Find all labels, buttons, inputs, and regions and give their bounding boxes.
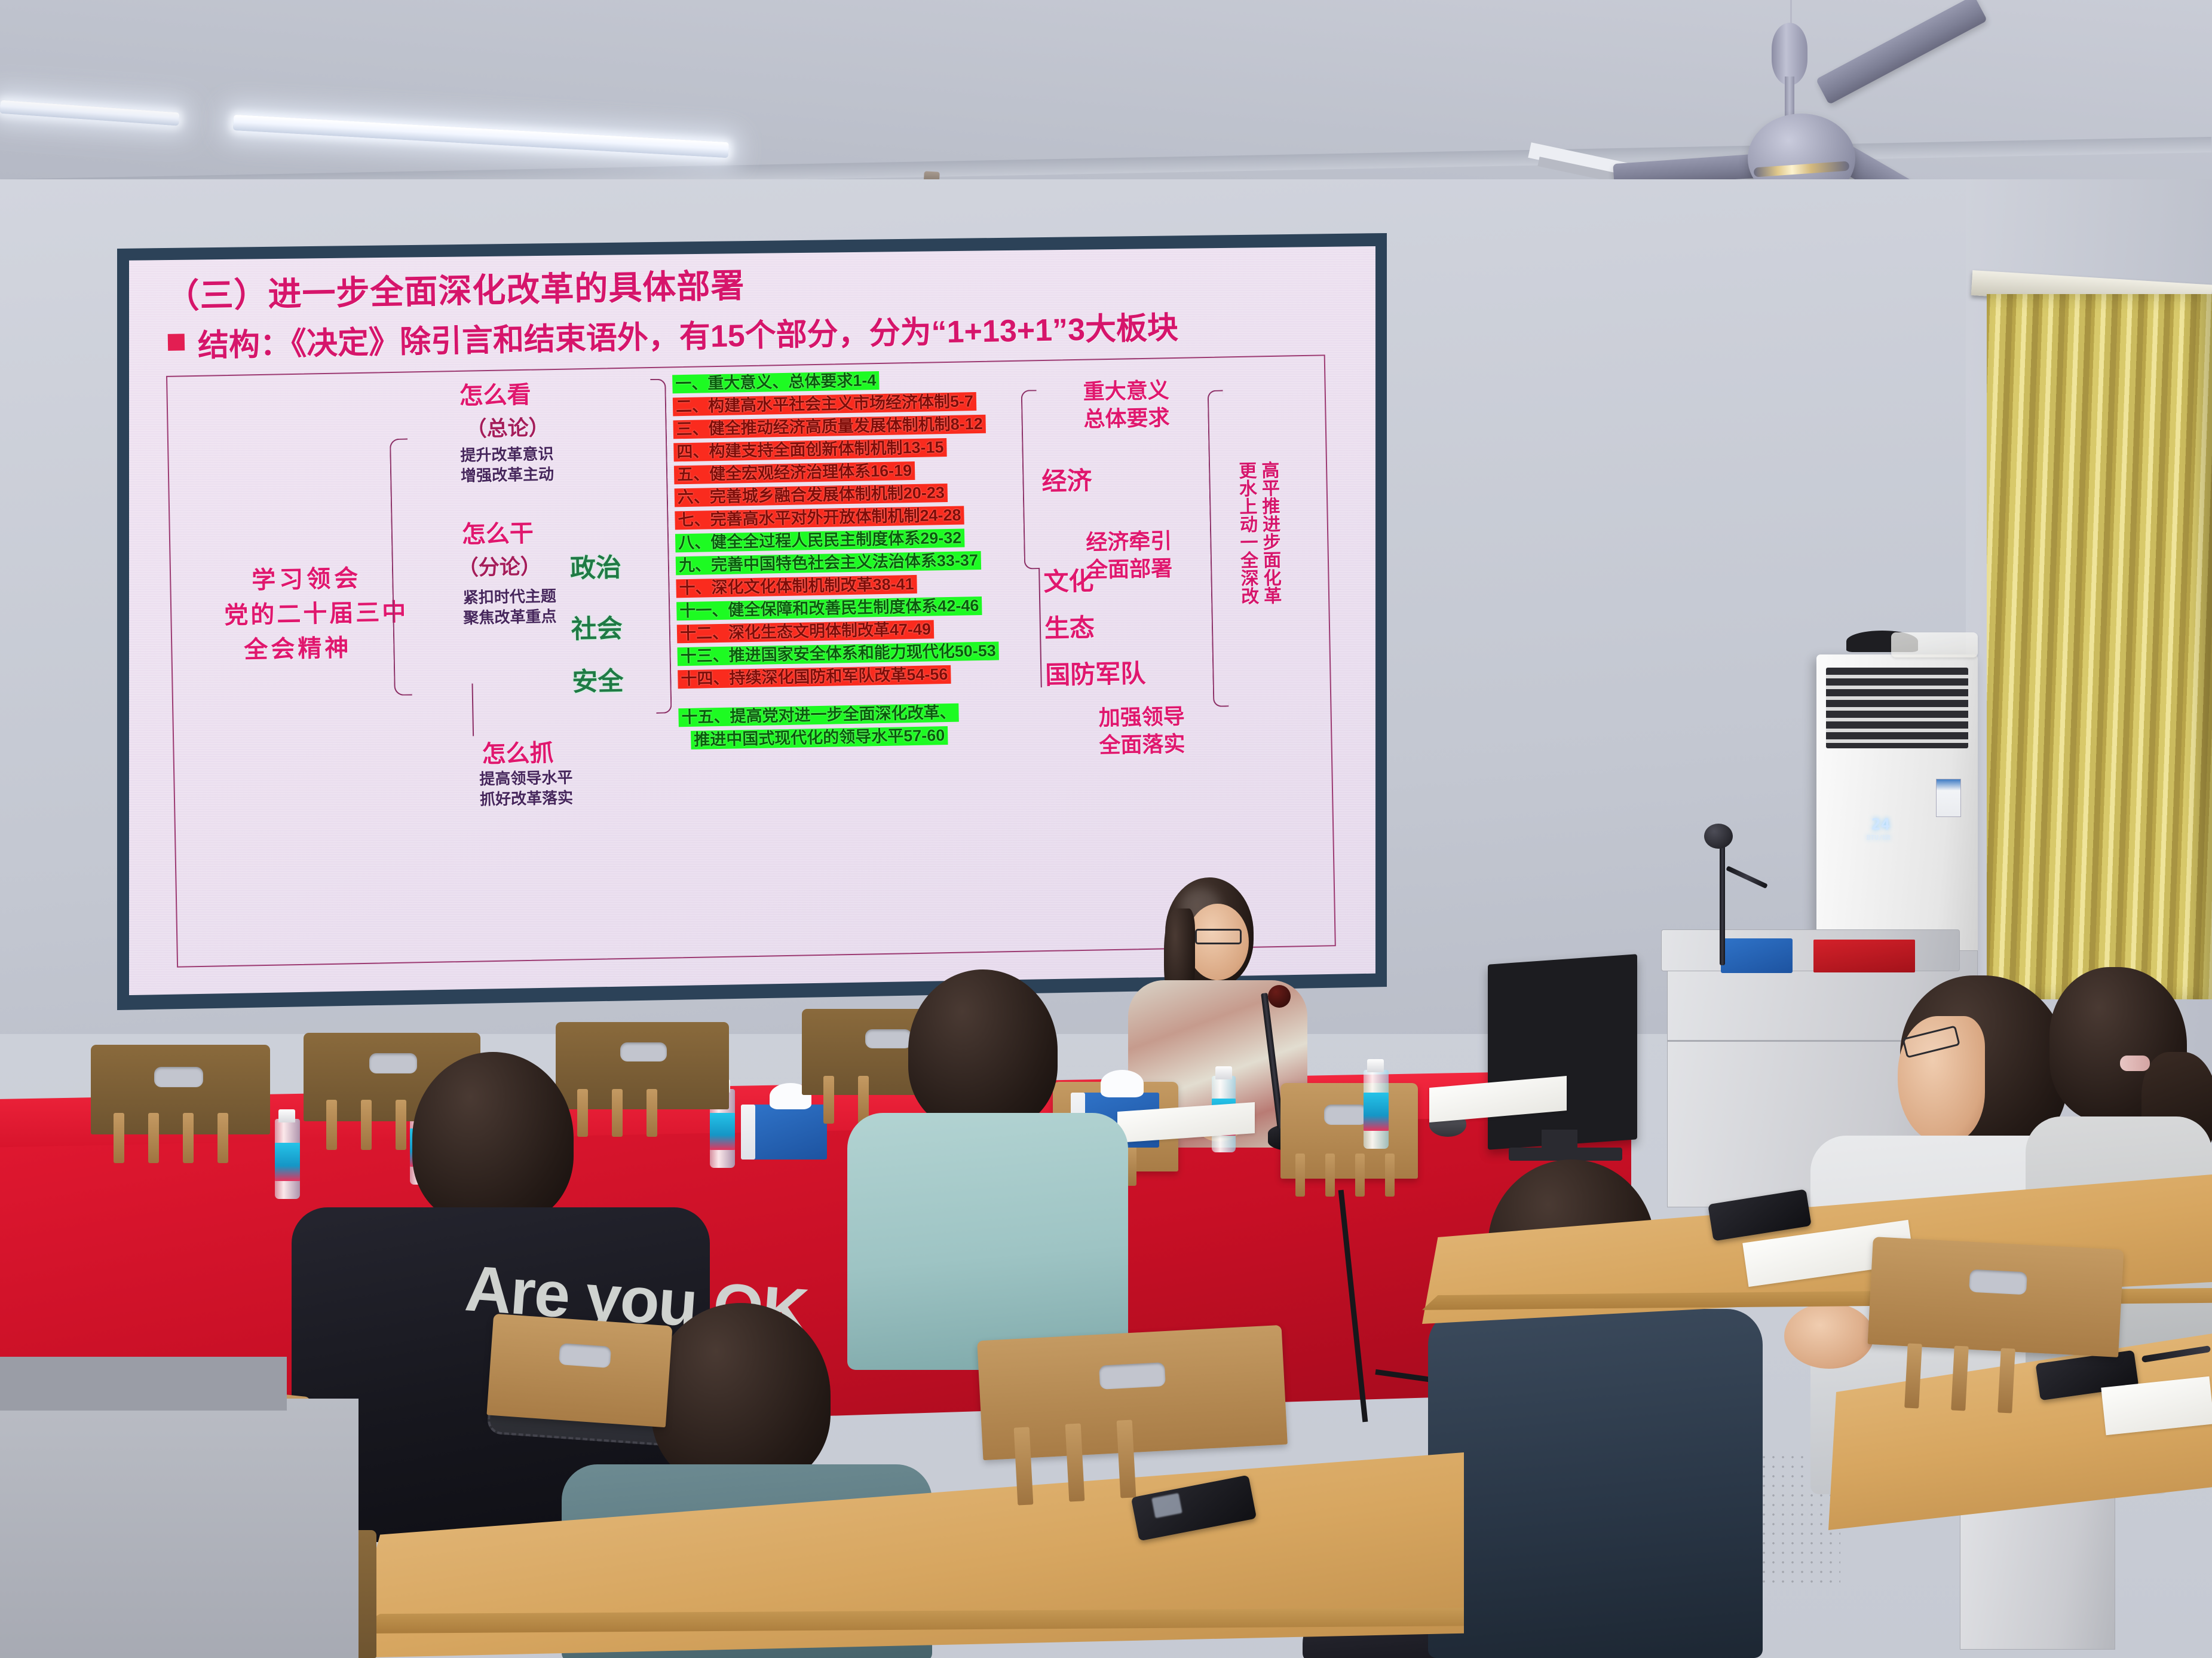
item-num: 十四、 bbox=[681, 669, 730, 688]
summary-1-line2: 总体要求 bbox=[1083, 400, 1170, 433]
chair-slat bbox=[1325, 1154, 1335, 1197]
item-text: 完善城乡融合发展体制机制20-23 bbox=[710, 484, 945, 506]
bracket-economy bbox=[1021, 390, 1040, 569]
chair-handle-cutout bbox=[865, 1029, 912, 1048]
item-num: 十三、 bbox=[680, 647, 729, 665]
window-curtain[interactable] bbox=[1987, 294, 2212, 999]
bottle-cap bbox=[1215, 1066, 1232, 1079]
floor-mic-stand[interactable] bbox=[1720, 840, 1725, 965]
chair-slat bbox=[577, 1089, 588, 1137]
chair-handle-cutout bbox=[620, 1042, 667, 1062]
chair-handle-cutout bbox=[1969, 1269, 2027, 1295]
item-text: 健全全过程人民民主制度体系29-32 bbox=[710, 529, 962, 552]
fan-suspension-chain bbox=[1790, 0, 1792, 25]
chair-slat bbox=[326, 1100, 337, 1150]
tissue-box[interactable] bbox=[752, 1105, 827, 1160]
ac-temperature-display: 24 bbox=[1871, 816, 1890, 834]
attendee-head bbox=[908, 969, 1058, 1131]
chair-slat bbox=[1385, 1154, 1395, 1197]
floor-strip bbox=[0, 1357, 287, 1411]
sector-label-economy: 经济 bbox=[1041, 461, 1092, 498]
chair-slat bbox=[1295, 1154, 1305, 1197]
chair-handle-cutout bbox=[1099, 1362, 1166, 1390]
vertical-text-col2: 高平推进步面化革 bbox=[1259, 461, 1280, 605]
item-num: 八、 bbox=[678, 533, 711, 552]
item-num: 七、 bbox=[678, 510, 710, 529]
summary-3-line2: 全面落实 bbox=[1099, 727, 1185, 760]
root-node-line3: 全会精神 bbox=[244, 628, 352, 665]
item-text: 构建支持全面创新体制机制13-15 bbox=[709, 438, 944, 460]
branch-sub-1: （总论） bbox=[465, 411, 550, 443]
tissue-sheet bbox=[1101, 1070, 1144, 1097]
item-num: 十二、 bbox=[680, 624, 729, 643]
chair-handle-cutout bbox=[1324, 1105, 1367, 1125]
chair-slat bbox=[148, 1113, 159, 1163]
item-text: 提高党对进一步全面深化改革、 bbox=[730, 703, 955, 726]
item-text: 健全保障和改善民生制度体系42-46 bbox=[728, 596, 979, 619]
item-num: 十五、 bbox=[681, 708, 730, 726]
item-num: 四、 bbox=[676, 442, 709, 461]
branch-note-1b: 增强改革主动 bbox=[461, 462, 554, 486]
bullet-square-icon bbox=[168, 334, 185, 351]
item-num: 十、 bbox=[679, 579, 712, 597]
branch-heading-1: 怎么看 bbox=[459, 375, 531, 411]
hair-tie bbox=[2120, 1056, 2150, 1071]
bottle-cap bbox=[278, 1109, 295, 1122]
sector-label-ecology: 生态 bbox=[1044, 608, 1095, 646]
chair-handle-cutout bbox=[559, 1343, 611, 1368]
vertical-text-col1: 更水上动一全深改 bbox=[1236, 461, 1258, 605]
chair-slat bbox=[647, 1089, 657, 1137]
ac-energy-label bbox=[1936, 779, 1961, 817]
branch-heading-2: 怎么干 bbox=[461, 514, 534, 550]
item-text: 完善高水平对外开放体制机制24-28 bbox=[710, 506, 961, 529]
projection-screen[interactable]: （三）进一步全面深化改革的具体部署 结构：《决定》除引言和结束语外，有15个部分… bbox=[129, 246, 1375, 995]
item-text: 推进中国式现代化的领导水平57-60 bbox=[694, 726, 945, 749]
chair-handle-cutout bbox=[154, 1067, 203, 1087]
bottle-label bbox=[1364, 1093, 1389, 1131]
floor-mic-head bbox=[1704, 824, 1733, 849]
tissue-box-side bbox=[741, 1105, 755, 1160]
chair-back[interactable] bbox=[486, 1314, 672, 1428]
chair-handle-cutout bbox=[369, 1053, 417, 1073]
item-text: 深化生态文明体制改革47-49 bbox=[728, 620, 932, 642]
branch-note-3b: 抓好改革落实 bbox=[480, 786, 574, 810]
item-text: 深化文化体制机制改革38-41 bbox=[711, 575, 914, 596]
attendee-body-light-blue bbox=[847, 1113, 1128, 1370]
sector-label-defense: 国防军队 bbox=[1045, 653, 1146, 692]
bottle-label bbox=[710, 1113, 735, 1150]
blue-box-on-printer[interactable] bbox=[1721, 938, 1793, 973]
meeting-room-scene: （三）进一步全面深化改革的具体部署 结构：《决定》除引言和结束语外，有15个部分… bbox=[0, 0, 2212, 1658]
summary-2-line2: 全面部署 bbox=[1086, 551, 1173, 584]
item-text: 重大意义、总体要求1-4 bbox=[707, 371, 877, 392]
domain-label-security: 安全 bbox=[572, 660, 624, 699]
floor bbox=[0, 1399, 359, 1658]
attendee-forearm bbox=[1784, 1303, 1874, 1369]
desk-mic-capsule bbox=[1268, 985, 1291, 1008]
ac-air-vent bbox=[1826, 668, 1968, 748]
chair-slat bbox=[1355, 1154, 1365, 1197]
red-box-on-printer[interactable] bbox=[1813, 940, 1915, 972]
ac-unit-label: BTU/HR bbox=[1867, 834, 1891, 842]
item-num: 一、 bbox=[675, 374, 708, 393]
slide-title: （三）进一步全面深化改革的具体部署 bbox=[166, 259, 745, 318]
item-num: 二、 bbox=[676, 397, 709, 415]
bottle-label bbox=[275, 1143, 300, 1181]
item-chip: 一、重大意义、总体要求1-4 bbox=[672, 371, 880, 393]
item-num: 九、 bbox=[679, 556, 712, 574]
chair-slat bbox=[361, 1100, 372, 1150]
presenter-glasses bbox=[1195, 929, 1242, 944]
branch-note-2b: 聚焦改革重点 bbox=[463, 604, 557, 628]
chair-slat bbox=[823, 1076, 834, 1124]
bottle-cap bbox=[1367, 1059, 1384, 1072]
root-node-line2: 党的二十届三中 bbox=[224, 593, 409, 631]
item-num: 五、 bbox=[677, 465, 710, 484]
chair-slat bbox=[114, 1113, 124, 1163]
chair-slat bbox=[396, 1100, 406, 1150]
presentation-slide: （三）进一步全面深化改革的具体部署 结构：《决定》除引言和结束语外，有15个部分… bbox=[129, 246, 1375, 995]
item-text: 健全宏观经济治理体系16-19 bbox=[709, 461, 912, 483]
item-num: 十一、 bbox=[679, 601, 728, 620]
attendee-head bbox=[651, 1303, 831, 1488]
branch-sub-2: （分论） bbox=[457, 549, 541, 582]
chair-slat bbox=[183, 1113, 194, 1163]
item-text: 持续深化国防和军队改革54-56 bbox=[729, 665, 948, 687]
chair-back[interactable] bbox=[1868, 1237, 2124, 1357]
domain-label-society: 社会 bbox=[571, 608, 623, 646]
branch-heading-3: 怎么抓 bbox=[482, 733, 554, 769]
monitor-base bbox=[1509, 1148, 1622, 1161]
root-node-line1: 学习领会 bbox=[252, 559, 362, 595]
bag-on-ac bbox=[1891, 632, 1978, 657]
item-num: 三、 bbox=[676, 420, 709, 438]
item-num: 六、 bbox=[678, 488, 710, 506]
printer-top-unit[interactable] bbox=[1661, 929, 1960, 971]
chair-slat bbox=[612, 1089, 623, 1137]
attendee-head bbox=[412, 1052, 574, 1225]
chair-slat bbox=[217, 1113, 228, 1163]
domain-label-politics: 政治 bbox=[569, 547, 621, 585]
presenter-monitor[interactable] bbox=[1488, 954, 1637, 1149]
attendee-body-navy bbox=[1428, 1309, 1763, 1658]
chair-slat bbox=[1127, 1146, 1136, 1186]
